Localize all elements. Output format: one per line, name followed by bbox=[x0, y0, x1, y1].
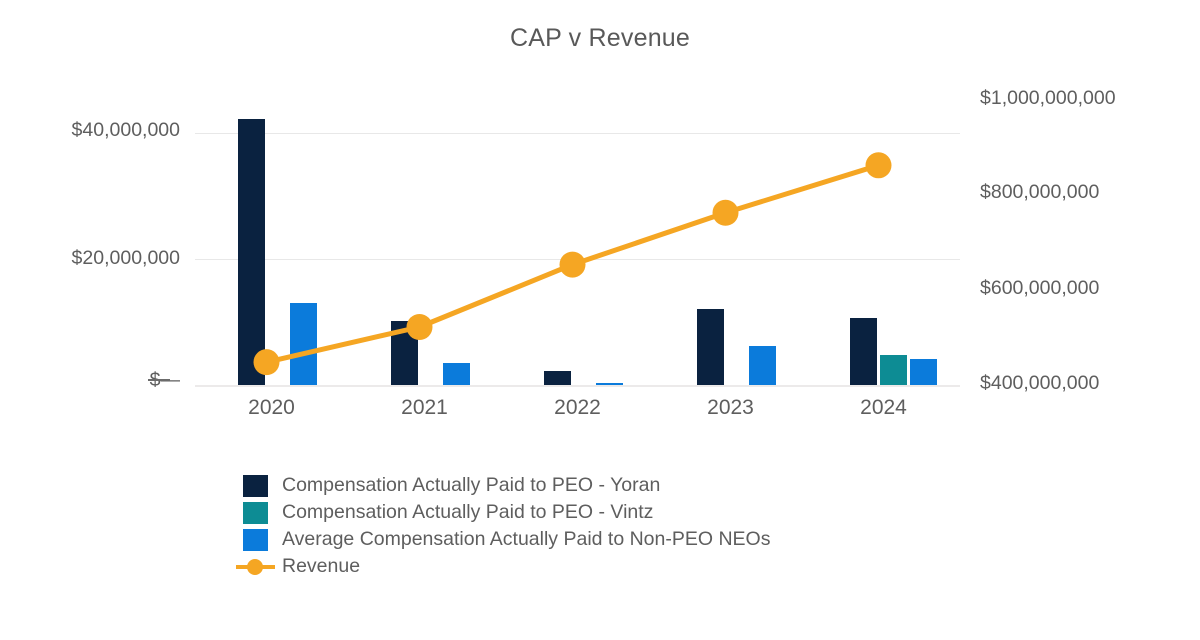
y-axis-right-tick-800000000: $800,000,000 bbox=[980, 181, 1200, 204]
legend-swatch-icon bbox=[243, 475, 268, 497]
bar-2021-series-0[interactable] bbox=[391, 321, 418, 385]
x-axis-tick-2024: 2024 bbox=[809, 396, 959, 420]
legend-swatch-icon bbox=[243, 502, 268, 524]
bar-2024-series-1[interactable] bbox=[880, 355, 907, 385]
y-axis-right-tick-label: $600,000,000 bbox=[980, 277, 1099, 299]
y-axis-right-tick-600000000: $600,000,000 bbox=[980, 277, 1200, 300]
bar-2020-series-0[interactable] bbox=[238, 119, 265, 385]
y-axis-right-tick-label: $800,000,000 bbox=[980, 181, 1099, 203]
bar-2024-series-2[interactable] bbox=[910, 359, 937, 385]
plot-area bbox=[195, 95, 960, 385]
legend-item-2[interactable]: Average Compensation Actually Paid to No… bbox=[243, 526, 770, 553]
y-axis-right-tick-1000000000: $1,000,000,000 bbox=[980, 87, 1200, 110]
gridline bbox=[195, 133, 960, 134]
gridline bbox=[195, 259, 960, 260]
x-axis-tick-2021: 2021 bbox=[350, 396, 500, 420]
legend-item-1[interactable]: Compensation Actually Paid to PEO - Vint… bbox=[243, 499, 770, 526]
bar-2023-series-2[interactable] bbox=[749, 346, 776, 385]
axis-baseline bbox=[195, 385, 960, 387]
chart-title: CAP v Revenue bbox=[0, 24, 1200, 53]
legend-line-dot-icon bbox=[243, 556, 268, 578]
y-axis-left-tick-20000000: $20,000,000 bbox=[0, 247, 180, 270]
y-axis-right-tick-400000000: $400,000,000 bbox=[980, 372, 1200, 395]
legend-item-label: Compensation Actually Paid to PEO - Yora… bbox=[282, 474, 660, 497]
y-axis-right-tick-label: $1,000,000,000 bbox=[980, 87, 1116, 109]
legend-item-label: Average Compensation Actually Paid to No… bbox=[282, 528, 770, 551]
legend-item-label: Compensation Actually Paid to PEO - Vint… bbox=[282, 501, 653, 524]
legend-item-label: Revenue bbox=[282, 555, 360, 578]
bar-2022-series-2[interactable] bbox=[596, 383, 623, 385]
bar-2021-series-2[interactable] bbox=[443, 363, 470, 385]
legend-item-0[interactable]: Compensation Actually Paid to PEO - Yora… bbox=[243, 472, 770, 499]
legend-dot-marker bbox=[247, 559, 263, 575]
bar-2020-series-2[interactable] bbox=[290, 303, 317, 385]
chart-legend: Compensation Actually Paid to PEO - Yora… bbox=[243, 472, 770, 580]
zero-tick-dash bbox=[148, 379, 170, 381]
legend-swatch-icon bbox=[243, 529, 268, 551]
y-axis-left-tick-label: $20,000,000 bbox=[72, 247, 180, 270]
bar-2022-series-0[interactable] bbox=[544, 371, 571, 386]
y-axis-left-tick-40000000: $40,000,000 bbox=[0, 119, 180, 142]
y-axis-left-tick-label: $40,000,000 bbox=[72, 119, 180, 142]
x-axis-tick-2023: 2023 bbox=[656, 396, 806, 420]
chart-container: CAP v Revenue $40,000,000 $20,000,000 $—… bbox=[0, 0, 1200, 640]
x-axis-tick-2022: 2022 bbox=[503, 396, 653, 420]
bar-2024-series-0[interactable] bbox=[850, 318, 877, 385]
x-axis-tick-2020: 2020 bbox=[197, 396, 347, 420]
legend-item-3[interactable]: Revenue bbox=[243, 553, 770, 580]
y-axis-right-tick-label: $400,000,000 bbox=[980, 372, 1099, 394]
bar-2023-series-0[interactable] bbox=[697, 309, 724, 385]
